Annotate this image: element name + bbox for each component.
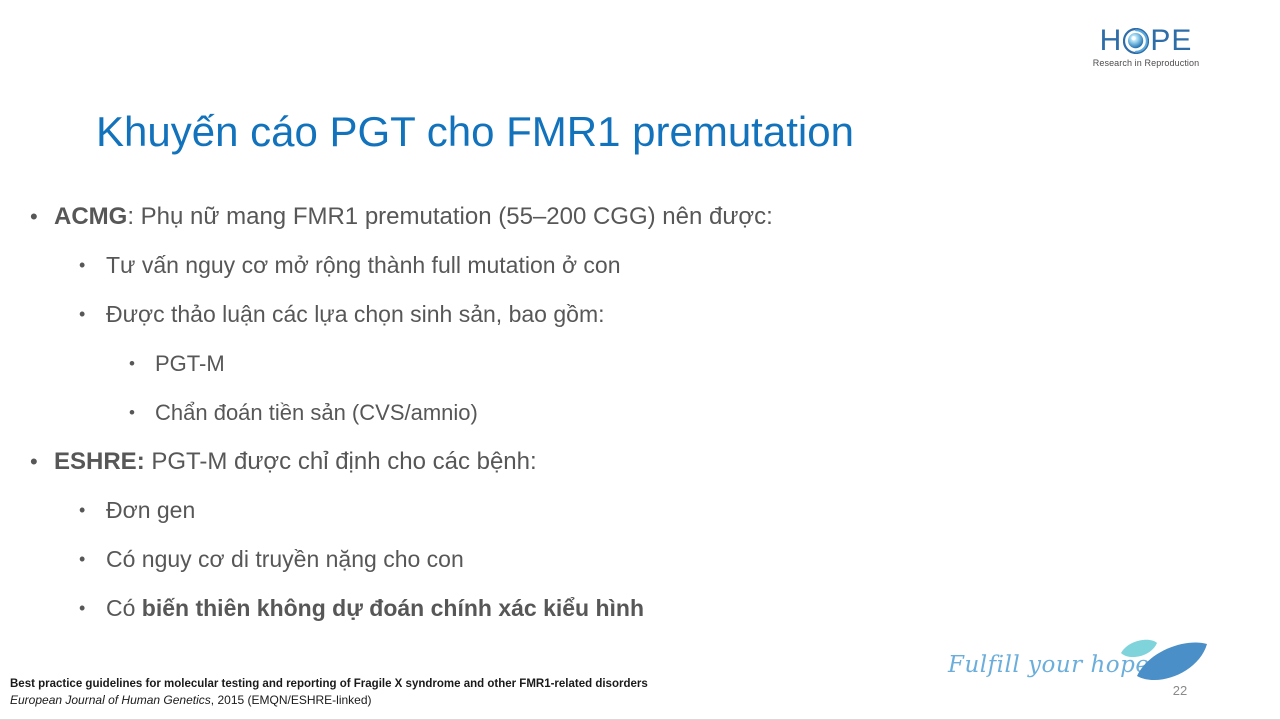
bullet-bold-prefix: ACMG — [54, 203, 127, 230]
bullet-text: ACMG: Phụ nữ mang FMR1 premutation (55–2… — [54, 192, 1000, 241]
bullet-text: Tư vấn nguy cơ mở rộng thành full mutati… — [106, 241, 1000, 290]
bullet-bold-suffix: biến thiên không dự đoán chính xác kiểu … — [142, 595, 644, 621]
hope-tagline: Research in Reproduction — [1082, 58, 1210, 68]
bullet-body: Chẩn đoán tiền sản (CVS/amnio) — [155, 400, 478, 425]
bullet-text: Có biến thiên không dự đoán chính xác ki… — [106, 584, 1000, 633]
bullet-icon: • — [129, 388, 155, 437]
bullet-item: • ACMG: Phụ nữ mang FMR1 premutation (55… — [0, 192, 1000, 241]
bullet-text: Được thảo luận các lựa chọn sinh sản, ba… — [106, 290, 1000, 339]
bullet-body: Tư vấn nguy cơ mở rộng thành full mutati… — [106, 252, 621, 278]
hope-wordmark: H PE — [1082, 26, 1210, 56]
bullet-icon: • — [79, 584, 106, 633]
bullet-item: • Có nguy cơ di truyền nặng cho con — [0, 535, 1000, 584]
bullet-body: Có — [106, 595, 142, 621]
bullet-icon: • — [129, 339, 155, 388]
bullet-icon: • — [79, 241, 106, 290]
eye-swirl-icon — [1123, 28, 1149, 54]
bullet-body: : Phụ nữ mang FMR1 premutation (55–200 C… — [127, 203, 773, 230]
bullet-body: Đơn gen — [106, 497, 195, 523]
hope-logo: H PE Research in — [1082, 26, 1210, 74]
bullet-body: Được thảo luận các lựa chọn sinh sản, ba… — [106, 301, 605, 327]
bullet-icon: • — [79, 486, 106, 535]
bullet-text: Có nguy cơ di truyền nặng cho con — [106, 535, 1000, 584]
citation-title: Best practice guidelines for molecular t… — [10, 676, 830, 692]
bullet-icon: • — [79, 535, 106, 584]
footer-brand-lockup: Fulfill your hope 22 — [948, 636, 1218, 714]
slide-canvas: H PE Research in — [0, 0, 1280, 720]
bullet-body: PGT-M được chỉ định cho các bệnh: — [145, 448, 537, 475]
citation-block: Best practice guidelines for molecular t… — [10, 676, 830, 708]
bullet-item: • Chẩn đoán tiền sản (CVS/amnio) — [0, 388, 1000, 437]
citation-source: European Journal of Human Genetics, 2015… — [10, 692, 830, 708]
bullet-bold-prefix: ESHRE: — [54, 448, 145, 475]
bullet-icon: • — [79, 290, 106, 339]
bullet-list: • ACMG: Phụ nữ mang FMR1 premutation (55… — [0, 192, 1000, 633]
bullet-item: • Đơn gen — [0, 486, 1000, 535]
hope-letter-h: H — [1100, 26, 1123, 56]
bullet-item: • ESHRE: PGT-M được chỉ định cho các bện… — [0, 437, 1000, 486]
bullet-item: • Có biến thiên không dự đoán chính xác … — [0, 584, 1000, 633]
bullet-body: PGT-M — [155, 351, 225, 376]
bullet-icon: • — [30, 437, 54, 486]
bullet-text: ESHRE: PGT-M được chỉ định cho các bệnh: — [54, 437, 1000, 486]
bullet-body: Có nguy cơ di truyền nặng cho con — [106, 546, 464, 572]
bullet-item: • PGT-M — [0, 339, 1000, 388]
citation-year-note: , 2015 (EMQN/ESHRE-linked) — [211, 693, 372, 707]
hope-letters-pe: PE — [1150, 26, 1192, 56]
bullet-item: • Được thảo luận các lựa chọn sinh sản, … — [0, 290, 1000, 339]
bullet-text: PGT-M — [155, 339, 1000, 388]
bullet-item: • Tư vấn nguy cơ mở rộng thành full muta… — [0, 241, 1000, 290]
bullet-text: Đơn gen — [106, 486, 1000, 535]
bullet-icon: • — [30, 192, 54, 241]
page-number: 22 — [1160, 683, 1200, 698]
citation-journal-name: European Journal of Human Genetics — [10, 693, 211, 707]
page-title: Khuyến cáo PGT cho FMR1 premutation — [96, 108, 1096, 156]
leaf-logo-icon — [1113, 636, 1213, 686]
bullet-text: Chẩn đoán tiền sản (CVS/amnio) — [155, 388, 1000, 437]
